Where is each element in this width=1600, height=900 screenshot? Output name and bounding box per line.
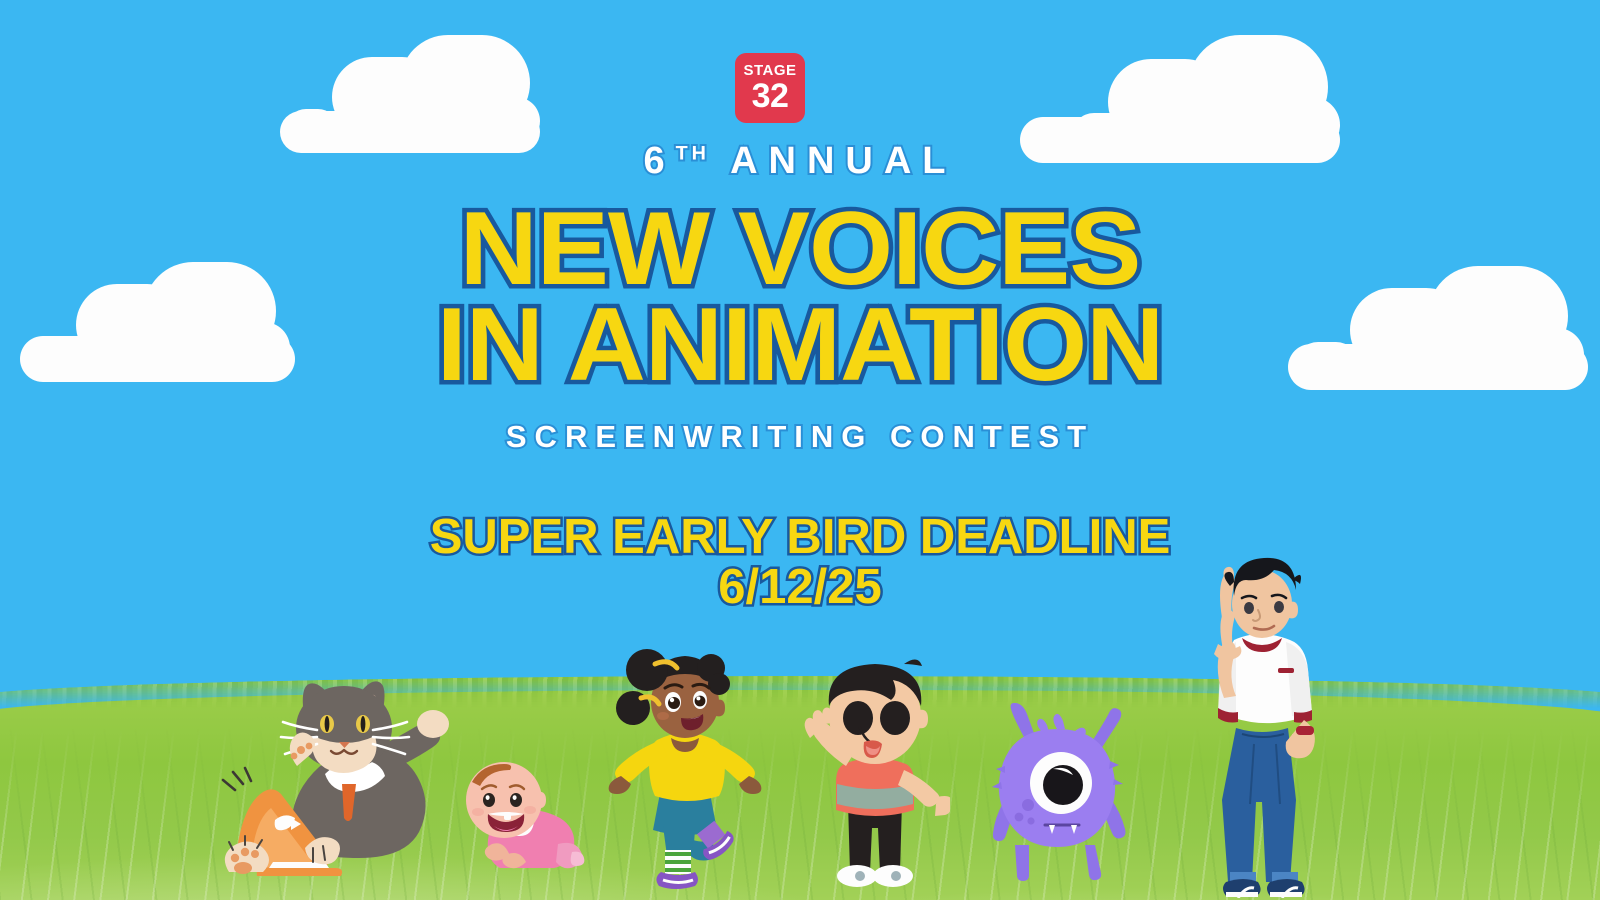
eyebrow-word: ANNUAL [730, 140, 956, 182]
logo-line-2: 32 [752, 79, 789, 113]
eyebrow-ordinal: TH [676, 142, 710, 164]
cat-with-laptop [205, 662, 475, 892]
cloud-top-left [280, 48, 540, 153]
title-line-2: IN ANIMATION [0, 298, 1600, 394]
girl-running [605, 640, 765, 895]
eyebrow-number: 6 [643, 140, 675, 182]
purple-monster [985, 703, 1130, 888]
logo-line-1: STAGE [743, 63, 796, 78]
poster-canvas: STAGE 32 6TH ANNUAL NEW VOICES IN ANIMAT… [0, 0, 1600, 900]
man-pointing-up [1180, 548, 1340, 898]
page-title: NEW VOICES IN ANIMATION [0, 202, 1600, 393]
deadline-block: SUPER EARLY BIRD DEADLINE 6/12/25 [0, 513, 1600, 613]
headline-block: 6TH ANNUAL NEW VOICES IN ANIMATION SCREE… [0, 142, 1600, 613]
stage-32-logo[interactable]: STAGE 32 [735, 53, 805, 123]
subtitle: SCREENWRITING CONTEST [0, 419, 1600, 455]
deadline-label: SUPER EARLY BIRD DEADLINE [430, 510, 1171, 564]
boy-waving [800, 642, 950, 892]
deadline-date: 6/12/25 [0, 563, 1600, 613]
eyebrow-annual: 6TH ANNUAL [0, 142, 1600, 180]
crawling-baby [448, 752, 598, 882]
